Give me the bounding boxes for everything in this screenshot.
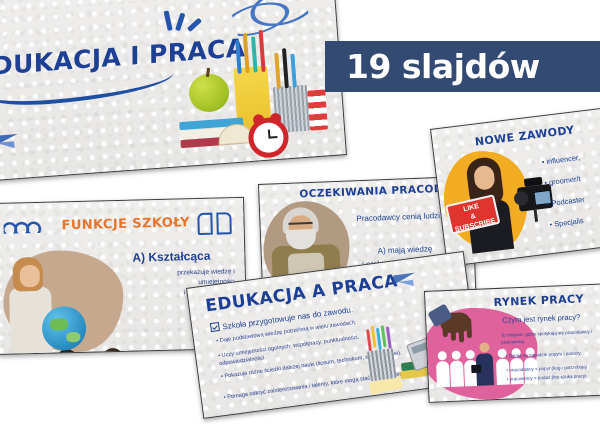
funkcje-subtitle: A) Kształcąca — [132, 249, 210, 265]
slide-title-nowe-zawody: NOWE ZAWODY — [474, 123, 575, 148]
pencil-orange — [274, 53, 281, 89]
slide-title-rynek-pracy: RYNEK PRACY — [493, 292, 584, 309]
underline-swoosh-icon — [0, 73, 175, 111]
nowe-zawody-bullet-1: • influencer, — [541, 153, 580, 167]
paper-plane-icon — [393, 272, 421, 293]
slide-title-funkcje: FUNKCJE SZKOŁY — [61, 215, 190, 233]
paper-plane-icon — [0, 132, 23, 154]
rynek-question: Czym jest rynek pracy? — [502, 312, 580, 324]
like-label: LIKE — [463, 203, 480, 213]
hand-picking-icon — [435, 300, 483, 342]
school-supplies-photo — [173, 25, 334, 166]
slide-nowe-zawody[interactable]: NOWE ZAWODY LIKE & SUBSCRIBE • influence… — [430, 106, 600, 267]
pencil-cup — [367, 348, 397, 381]
pen-black — [282, 48, 289, 88]
globe-icon — [42, 306, 87, 351]
striped-container — [307, 89, 328, 130]
checkbox-icon — [210, 322, 220, 332]
pen-lightblue — [290, 54, 296, 88]
amp-label: & — [470, 213, 477, 221]
scribble-doodle-icon — [3, 217, 41, 234]
slide-count-banner: 19 slajdów — [325, 41, 600, 92]
apple-icon — [188, 72, 231, 113]
slide-edukacja-i-praca[interactable]: EDUKACJA I PRACA — [0, 0, 347, 181]
slide-collage: EDUKACJA I PRACA 19 slajdów FUNK — [0, 0, 600, 424]
slide-rynek-pracy[interactable]: RYNEK PRACY Czym jest rynek pracy? To mi… — [424, 283, 600, 403]
selected-person-figure — [475, 342, 494, 386]
oczekiwania-point-a1: A) mają wiedzę — [377, 244, 432, 255]
funkcje-line-1: przekazuje wiedzę i — [117, 268, 235, 278]
open-book-icon — [197, 212, 232, 237]
slide-count-label: 19 slajdów — [346, 50, 540, 83]
